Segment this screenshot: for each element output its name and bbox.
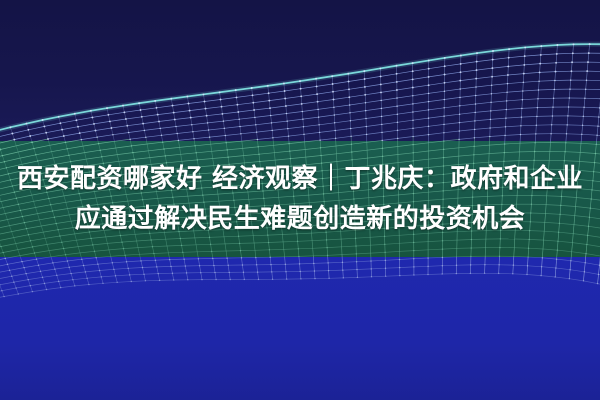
banner-title: 西安配资哪家好 经济观察｜丁兆庆：政府和企业 应通过解决民生难题创造新的投资机会 (0, 141, 600, 257)
title-line-1: 西安配资哪家好 经济观察｜丁兆庆：政府和企业 (17, 160, 583, 198)
banner-image: 西安配资哪家好 经济观察｜丁兆庆：政府和企业 应通过解决民生难题创造新的投资机会 (0, 0, 600, 400)
title-line-2: 应通过解决民生难题创造新的投资机会 (75, 200, 526, 238)
